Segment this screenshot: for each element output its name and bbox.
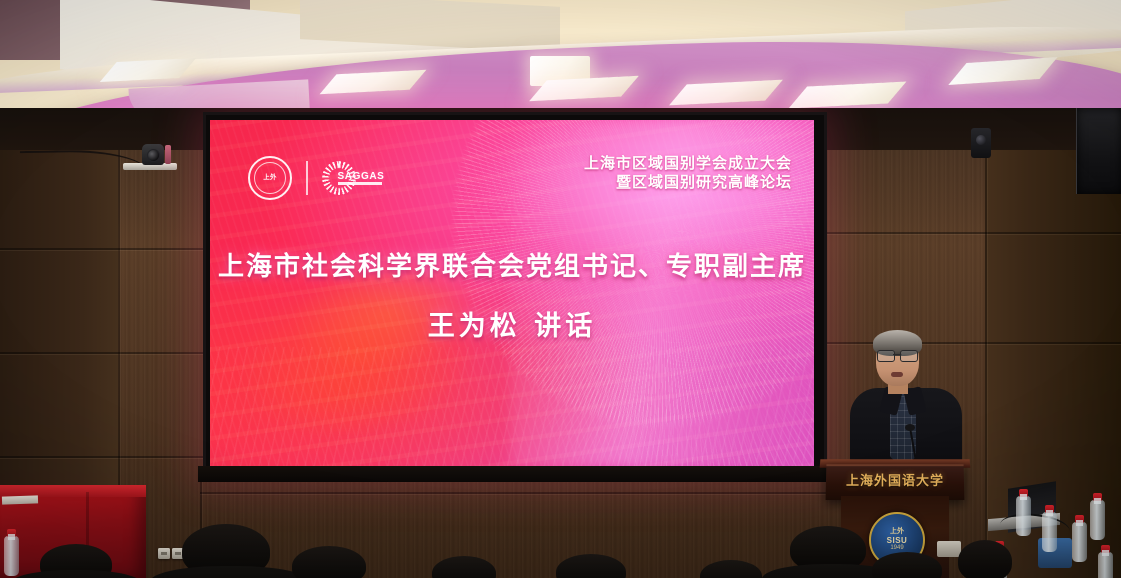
water-bottle bbox=[1016, 496, 1031, 536]
wall-panel-seam bbox=[822, 232, 1121, 234]
bottle-neck bbox=[1076, 520, 1083, 526]
bottle-neck bbox=[1046, 510, 1053, 516]
sisu-seal-icon: 上外 bbox=[248, 156, 292, 200]
ceiling-projector-icon bbox=[971, 128, 991, 158]
sisu-seal-text: 上外 bbox=[263, 175, 276, 182]
wall-panel-seam bbox=[0, 456, 205, 458]
logo-divider bbox=[306, 161, 308, 195]
water-bottle bbox=[1090, 500, 1105, 540]
screen-logo-row: 上外 SAGGAS bbox=[248, 156, 384, 200]
screen-title-line-1: 上海市社会科学界联合会党组书记、专职副主席 bbox=[210, 246, 814, 283]
camera-side-marker bbox=[165, 145, 171, 164]
presenter-mouth bbox=[891, 372, 903, 377]
bottle-neck bbox=[1102, 550, 1109, 556]
table-paper bbox=[2, 495, 38, 504]
conference-hall-photo: 上外 SAGGAS 上海市区域国别学会成立大会 暨区域国别研究高峰论坛 上海市社… bbox=[0, 0, 1121, 578]
bottle-neck bbox=[8, 534, 15, 540]
crest-top-text: 上外 bbox=[890, 528, 904, 536]
crest-middle-text: SISU bbox=[887, 536, 908, 545]
water-bottle bbox=[1042, 512, 1057, 552]
led-screen: 上外 SAGGAS 上海市区域国别学会成立大会 暨区域国别研究高峰论坛 上海市社… bbox=[210, 120, 814, 467]
saggas-logo-icon: SAGGAS bbox=[322, 158, 384, 198]
bottle-neck bbox=[1094, 498, 1101, 504]
screen-header-text: 上海市区域国别学会成立大会 暨区域国别研究高峰论坛 bbox=[584, 154, 792, 192]
wall-outlet-icon[interactable] bbox=[158, 548, 170, 559]
screen-header-line-1: 上海市区域国别学会成立大会 bbox=[584, 154, 792, 173]
screen-header-line-2: 暨区域国别研究高峰论坛 bbox=[584, 173, 792, 192]
microphone-icon bbox=[905, 424, 915, 431]
wall-panel-seam bbox=[0, 352, 205, 354]
camera-lens-icon bbox=[147, 149, 160, 162]
podium-name-plate: 上海外国语大学 bbox=[826, 470, 964, 489]
presenter-at-podium bbox=[846, 330, 966, 480]
audience-member bbox=[958, 540, 1012, 578]
bottle-neck bbox=[1020, 494, 1027, 500]
water-bottle bbox=[1098, 552, 1113, 578]
water-bottle bbox=[1072, 522, 1087, 562]
audience-member bbox=[292, 546, 366, 578]
wall-speaker-icon bbox=[1076, 108, 1121, 194]
screen-bottom-rays bbox=[210, 347, 814, 467]
saggas-wordmark: SAGGAS bbox=[338, 171, 385, 182]
crest-year-text: 1949 bbox=[890, 545, 903, 552]
screen-title-line-2: 王为松 讲话 bbox=[210, 304, 814, 343]
saggas-underbar bbox=[338, 182, 382, 185]
presenter-glasses-icon bbox=[877, 350, 918, 360]
wall-panel-seam bbox=[0, 248, 205, 250]
wall-panel-seam bbox=[200, 492, 840, 494]
water-bottle bbox=[4, 536, 19, 576]
led-screen-lower-bezel bbox=[198, 466, 826, 482]
wall-plate bbox=[937, 541, 961, 557]
wall-panel-seam bbox=[985, 150, 987, 578]
